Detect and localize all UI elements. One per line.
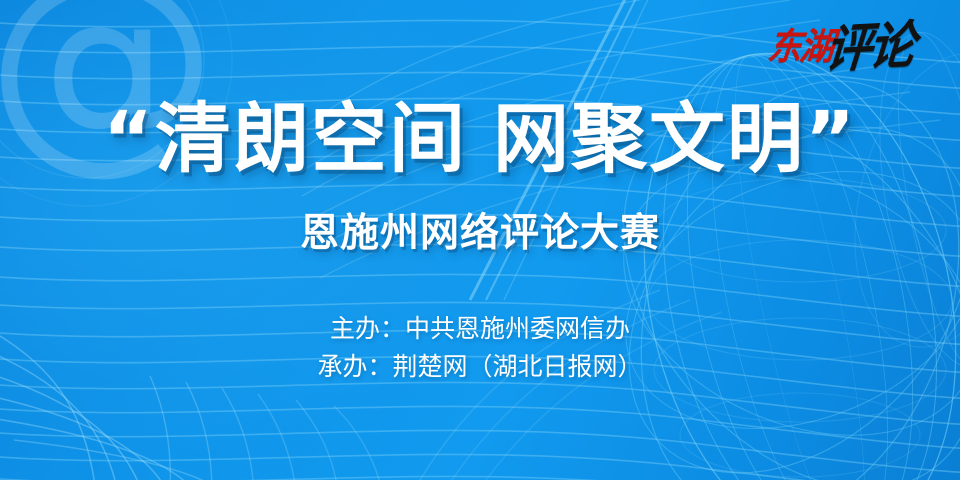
credits-block: 主办：中共恩施州委网信办 承办：荆楚网（湖北日报网） — [317, 310, 642, 386]
credit-line-host: 承办：荆楚网（湖北日报网） — [317, 348, 642, 386]
sub-title: 恩施州网络评论大赛 — [300, 210, 660, 258]
main-title-phrase-one: 清朗空间 — [155, 94, 467, 183]
main-title: “清朗空间网聚文明” — [103, 96, 857, 182]
dong-hu-ping-lun-logo[interactable]: 东湖 评论 — [768, 16, 912, 78]
main-title-open-quote: “ — [103, 94, 155, 183]
credit-line-organizer: 主办：中共恩施州委网信办 — [317, 310, 642, 348]
poster-banner: @ 东湖 评论 “清朗空间网聚文明” 恩施州网络评论大赛 主办：中共恩施州委网信… — [0, 0, 960, 480]
main-title-phrase-two: 网聚文明 — [493, 94, 805, 183]
main-title-close-quote: ” — [805, 94, 857, 183]
logo-text-black: 评论 — [823, 19, 914, 75]
